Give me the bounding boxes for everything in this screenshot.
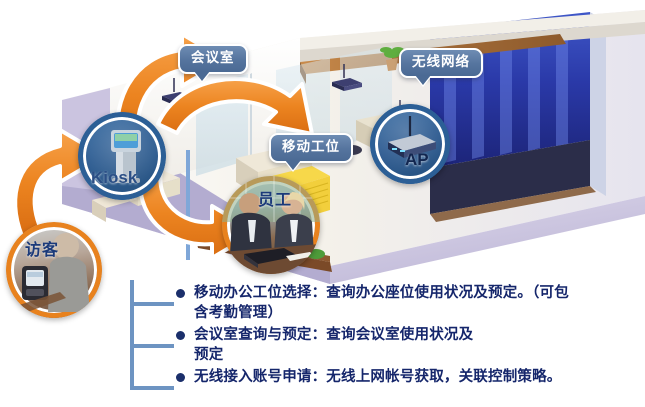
list-item-line: 预定	[194, 347, 223, 363]
bullet-dot	[176, 373, 185, 382]
list-item-text: 会议室查询与预定：查询会议室使用状况及预定	[194, 325, 473, 365]
list-item[interactable]: 会议室查询与预定：查询会议室使用状况及预定	[176, 325, 638, 365]
isometric-office-illustration: 会议室 无线网络 移动工位 Kiosk	[0, 0, 645, 300]
right-side-panel	[590, 12, 606, 196]
list-item-line: 无线接入账号申请：无线上网帐号获取，关联控制策略。	[194, 369, 562, 385]
list-item-text: 移动办公工位选择：查询办公座位使用状况及预定。（可包含考勤管理）	[194, 283, 569, 323]
bracket-connector-1	[130, 302, 174, 306]
node-kiosk-label: Kiosk	[91, 168, 137, 188]
bullet-dot	[176, 289, 185, 298]
slide-canvas: 会议室 无线网络 移动工位 Kiosk	[0, 0, 645, 407]
list-item-line: 含考勤管理）	[194, 305, 282, 321]
callout-wireless-network[interactable]: 无线网络	[399, 48, 483, 78]
list-item-line: 移动办公工位选择：查询办公座位使用状况及预定。（可包	[194, 285, 569, 301]
list-item[interactable]: 移动办公工位选择：查询办公座位使用状况及预定。（可包含考勤管理）	[176, 283, 638, 323]
callout-meeting-room[interactable]: 会议室	[178, 44, 248, 74]
node-kiosk[interactable]: Kiosk	[78, 112, 166, 200]
node-visitor[interactable]: 访客	[6, 222, 102, 318]
list-item-text: 无线接入账号申请：无线上网帐号获取，关联控制策略。	[194, 367, 562, 387]
bracket-connector-2	[130, 344, 174, 348]
bracket-vertical	[130, 280, 134, 390]
bracket-connector-3	[130, 386, 174, 390]
callout-mobile-workstation[interactable]: 移动工位	[269, 133, 353, 163]
list-item-line: 会议室查询与预定：查询会议室使用状况及	[194, 327, 473, 343]
bullet-dot	[176, 331, 185, 340]
wireless-router-icon	[370, 104, 450, 184]
node-staff-label: 员工	[258, 186, 292, 210]
callout-mobile-workstation-label: 移动工位	[282, 139, 340, 154]
callout-wireless-network-label: 无线网络	[412, 54, 470, 69]
node-ap[interactable]: AP	[370, 104, 450, 184]
node-staff[interactable]: 员工	[222, 176, 320, 274]
list-item[interactable]: 无线接入账号申请：无线上网帐号获取，关联控制策略。	[176, 367, 638, 387]
node-visitor-label: 访客	[25, 236, 59, 260]
node-ap-label: AP	[405, 150, 429, 170]
callout-meeting-room-label: 会议室	[191, 50, 235, 65]
